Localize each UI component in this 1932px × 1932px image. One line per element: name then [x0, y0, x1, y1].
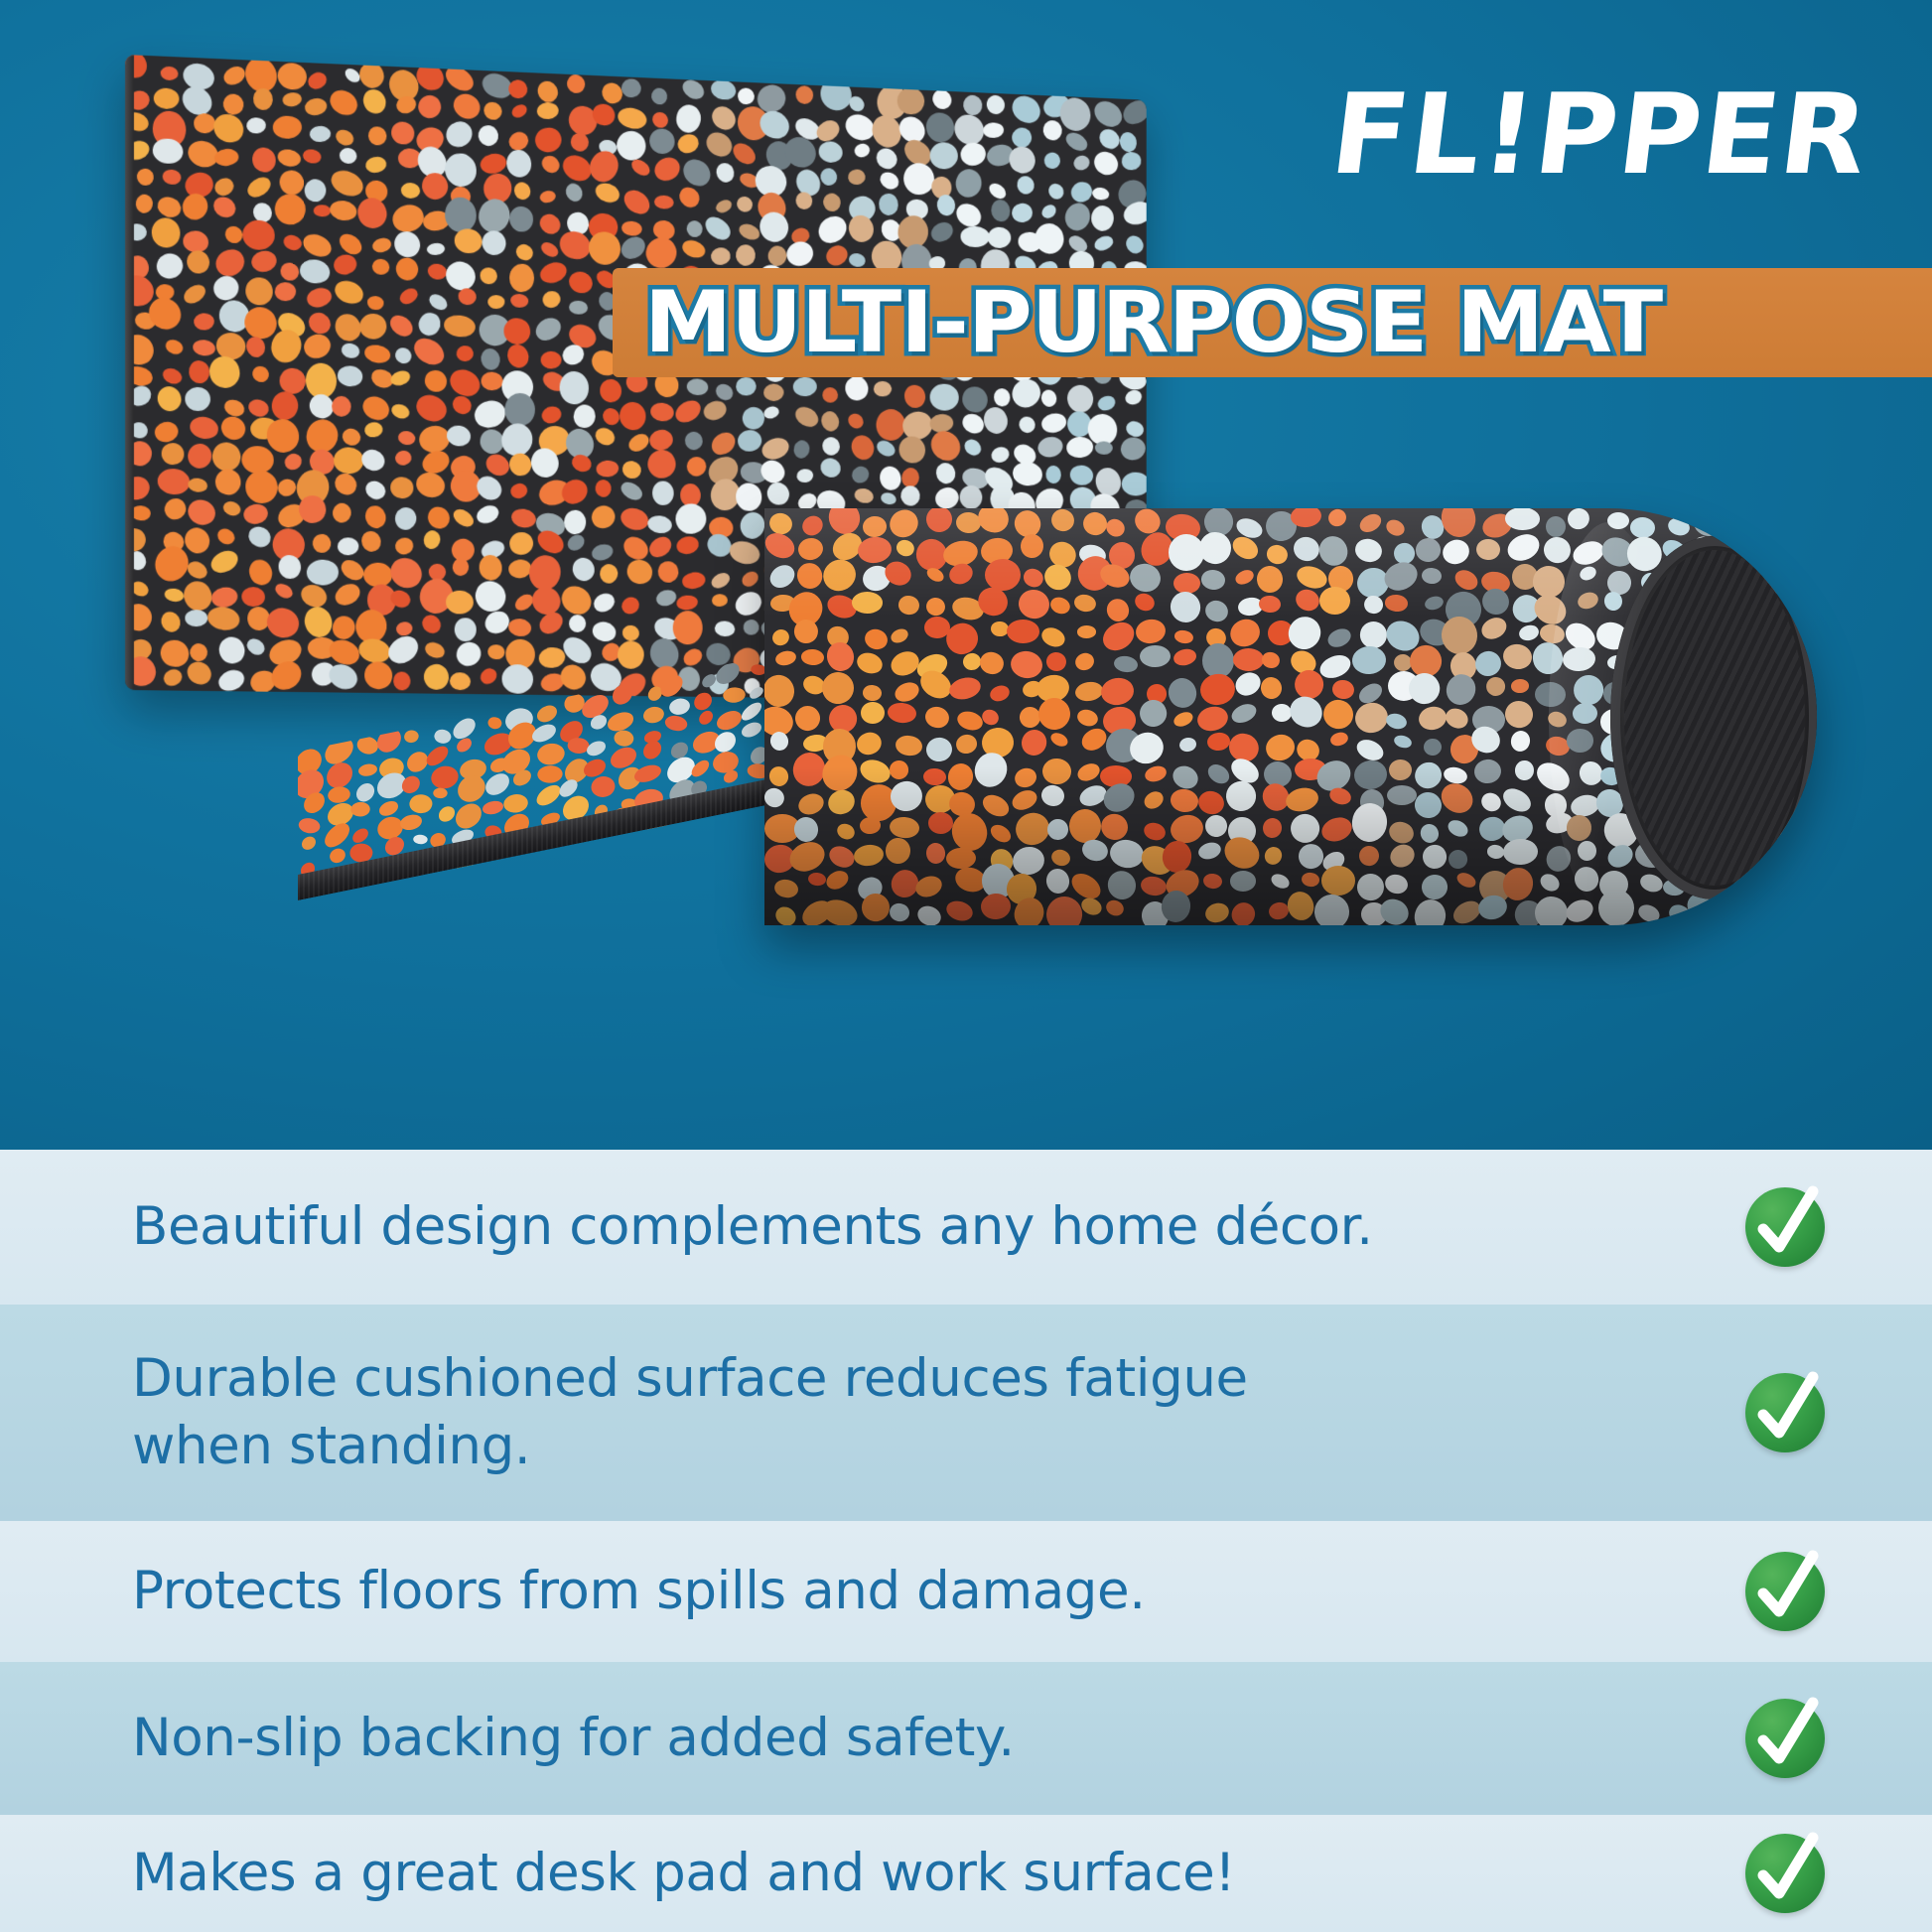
roll-highlight — [1549, 522, 1668, 911]
feature-text: Beautiful design complements any home dé… — [132, 1193, 1698, 1261]
feature-row: Beautiful design complements any home dé… — [0, 1150, 1932, 1305]
checkmark-icon — [1737, 1365, 1833, 1460]
brand-logo: FL!PPER — [1325, 79, 1875, 191]
feature-text: Non-slip backing for added safety. — [132, 1705, 1698, 1772]
product-infographic: FL!PPER MULTI-PURPOSE MAT Beautiful desi… — [0, 0, 1932, 1932]
checkmark-icon — [1737, 1826, 1833, 1921]
feature-text: Makes a great desk pad and work surface! — [132, 1840, 1698, 1907]
checkmark-icon — [1737, 1544, 1833, 1639]
hero-section: FL!PPER MULTI-PURPOSE MAT — [0, 0, 1932, 1150]
feature-row: Makes a great desk pad and work surface! — [0, 1815, 1932, 1932]
checkmark-icon — [1737, 1179, 1833, 1275]
feature-row: Durable cushioned surface reduces fatigu… — [0, 1305, 1932, 1521]
headline-banner: MULTI-PURPOSE MAT — [613, 268, 1932, 377]
feature-text: Protects floors from spills and damage. — [132, 1558, 1698, 1625]
rolled-mat-image — [298, 508, 1817, 935]
feature-text: Durable cushioned surface reduces fatigu… — [132, 1345, 1698, 1480]
mat-roll-body — [764, 508, 1817, 925]
feature-row: Non-slip backing for added safety. — [0, 1662, 1932, 1815]
page-title: MULTI-PURPOSE MAT — [644, 273, 1662, 372]
feature-list: Beautiful design complements any home dé… — [0, 1150, 1932, 1932]
mat-left-edge — [125, 55, 134, 690]
checkmark-icon — [1737, 1691, 1833, 1786]
feature-row: Protects floors from spills and damage. — [0, 1521, 1932, 1662]
